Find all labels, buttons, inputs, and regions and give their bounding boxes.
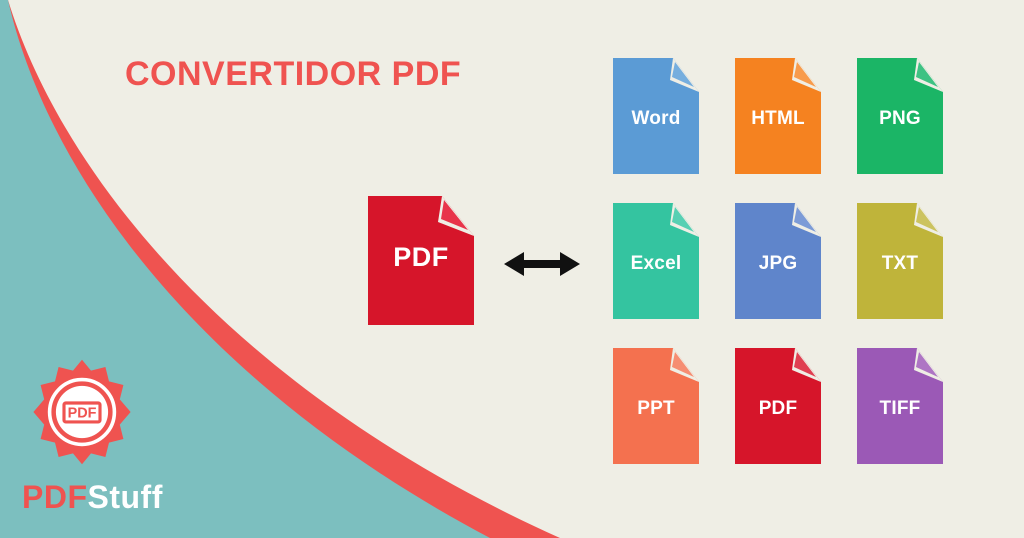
format-label: TIFF <box>857 398 943 420</box>
format-tile-txt[interactable]: TXT <box>857 203 943 319</box>
format-tile-png[interactable]: PNG <box>857 58 943 174</box>
poster-canvas: CONVERTIDOR PDF PDF Word <box>0 0 1024 538</box>
target-format-grid: Word HTML PNG Excel <box>613 58 953 473</box>
brand-wordmark-primary: PDF <box>22 479 88 515</box>
double-headed-arrow-icon <box>504 248 580 280</box>
format-label: TXT <box>857 253 943 275</box>
format-tile-jpg[interactable]: JPG <box>735 203 821 319</box>
format-label: PPT <box>613 398 699 420</box>
format-label: HTML <box>735 108 821 130</box>
brand-wordmark: PDFStuff <box>22 479 212 516</box>
format-tile-ppt[interactable]: PPT <box>613 348 699 464</box>
gear-inner-label: PDF <box>68 405 97 421</box>
page-title: CONVERTIDOR PDF <box>125 55 461 94</box>
format-tile-pdf[interactable]: PDF <box>735 348 821 464</box>
brand-wordmark-secondary: Stuff <box>88 479 163 515</box>
format-tile-word[interactable]: Word <box>613 58 699 174</box>
gear-pdf-logo-icon: PDF <box>28 358 136 466</box>
brand-block: PDF PDFStuff <box>22 358 212 516</box>
format-label: JPG <box>735 253 821 275</box>
format-tile-excel[interactable]: Excel <box>613 203 699 319</box>
format-label: Excel <box>613 253 699 275</box>
format-tile-html[interactable]: HTML <box>735 58 821 174</box>
source-document-label: PDF <box>368 242 474 273</box>
format-label: Word <box>613 108 699 130</box>
format-tile-tiff[interactable]: TIFF <box>857 348 943 464</box>
source-document-icon: PDF <box>368 196 474 325</box>
format-label: PNG <box>857 108 943 130</box>
format-label: PDF <box>735 398 821 420</box>
